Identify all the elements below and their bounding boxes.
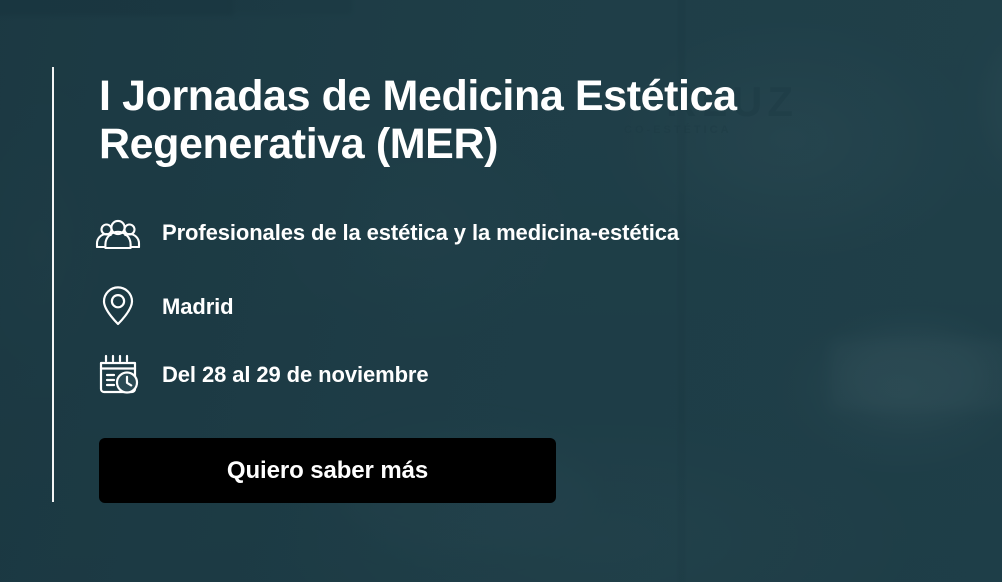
list-item-location: Madrid [93,281,713,331]
list-item-label: Del 28 al 29 de noviembre [162,358,429,391]
hero-content: I Jornadas de Medicina Estética Regenera… [0,0,1002,582]
list-item-audience: Profesionales de la estética y la medici… [93,214,713,264]
people-group-icon [93,214,143,264]
list-item-label: Madrid [162,290,234,323]
vertical-accent-rule [52,67,54,502]
promo-hero-banner: RLUZ CO-ESTÉTICA I Jornadas de Medicina … [0,0,1002,582]
location-pin-icon [93,281,143,331]
learn-more-button[interactable]: Quiero saber más [99,438,556,503]
event-details-list: Profesionales de la estética y la medici… [93,214,713,399]
list-item-label: Profesionales de la estética y la medici… [162,214,679,249]
calendar-clock-icon [93,349,143,399]
page-title: I Jornadas de Medicina Estética Regenera… [99,72,799,168]
list-item-dates: Del 28 al 29 de noviembre [93,349,713,399]
